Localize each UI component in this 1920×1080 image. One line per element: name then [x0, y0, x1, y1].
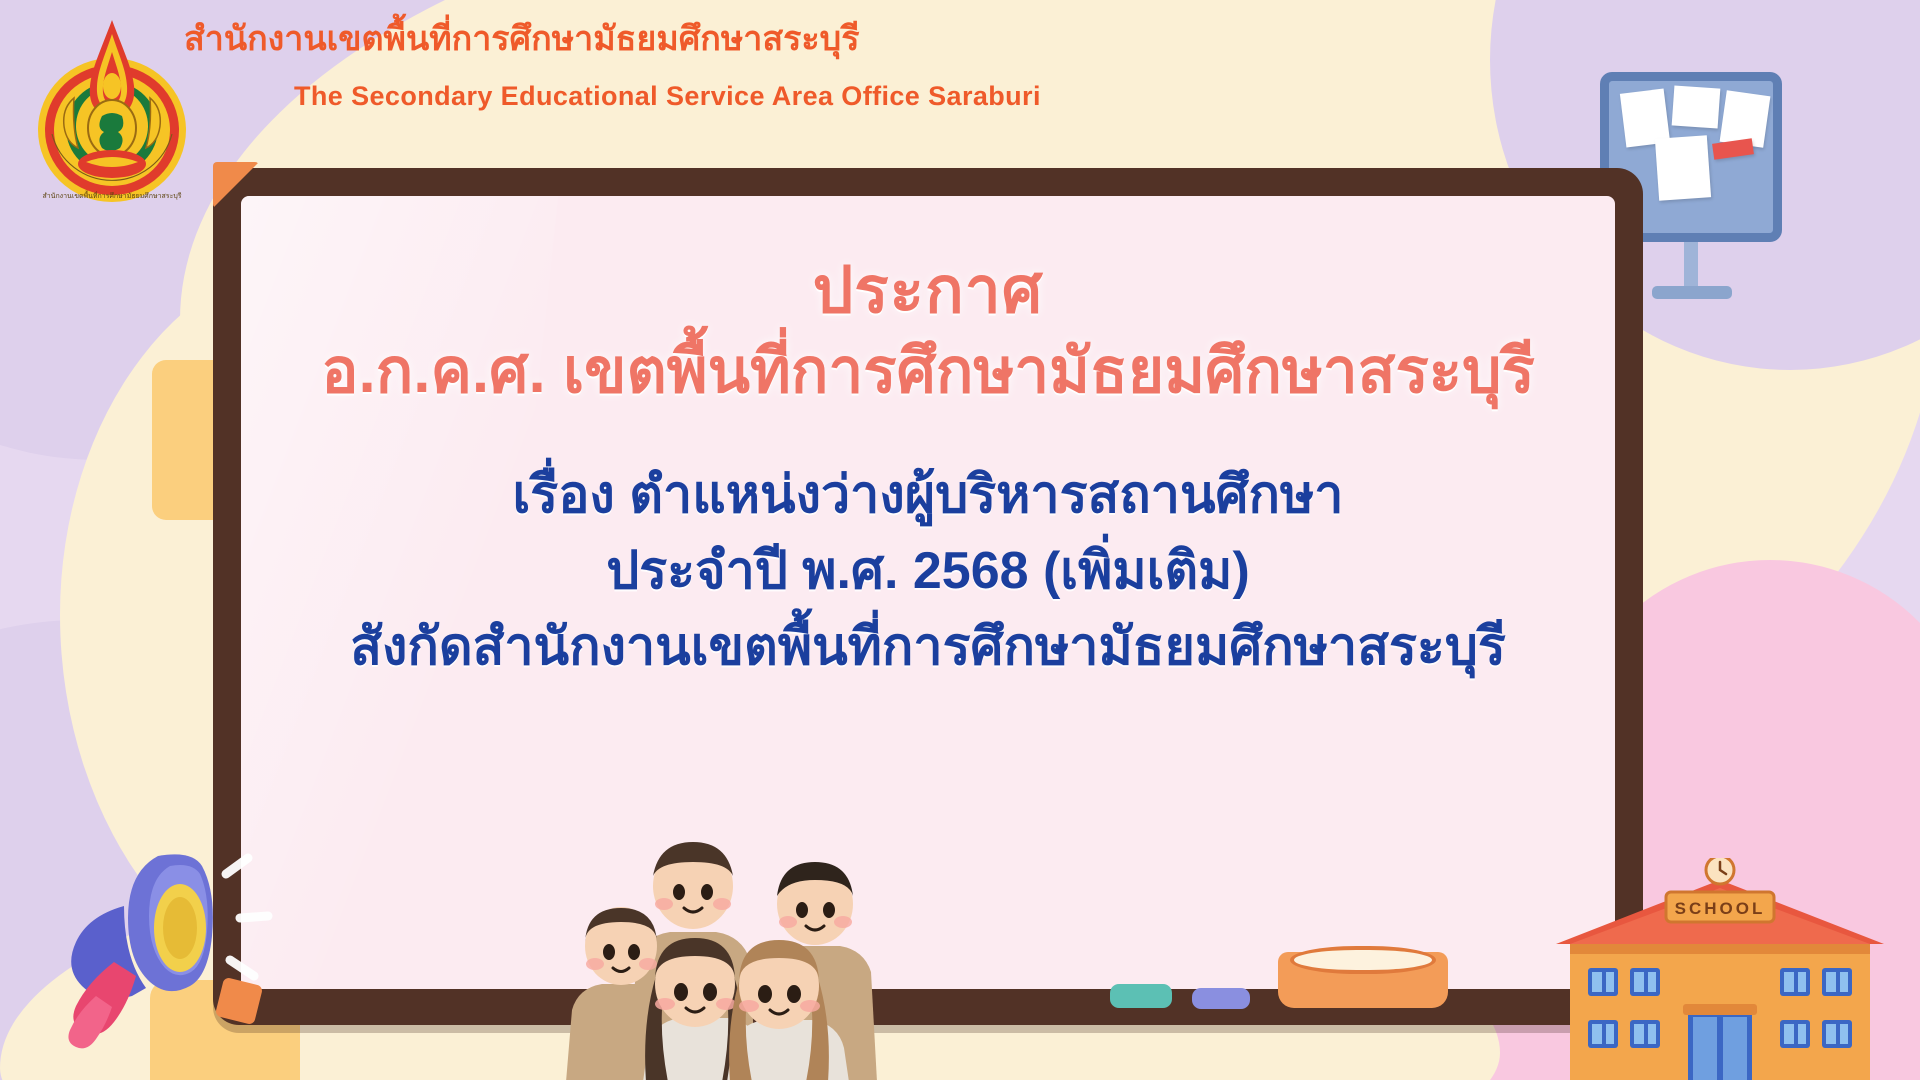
org-name-thai: สำนักงานเขตพื้นที่การศึกษามัธยมศึกษาสระบ…	[184, 18, 1284, 61]
eraser-blue	[1192, 988, 1250, 1009]
bulletin-note	[1655, 135, 1711, 200]
ministry-of-education-emblem-icon: สำนักงานเขตพื้นที่การศึกษามัธยมศึกษาสระบ…	[28, 12, 196, 208]
subject-line: เรื่อง ตำแหน่งว่างผู้บริหารสถานศึกษา	[281, 458, 1575, 534]
org-name-english: The Secondary Educational Service Area O…	[294, 81, 1284, 112]
board-corner-tape-top-left	[213, 162, 259, 208]
bulletin-board-stand	[1684, 237, 1698, 291]
bulletin-board-base	[1652, 286, 1732, 299]
bulletin-note	[1672, 85, 1721, 128]
year-line: ประจำปี พ.ศ. 2568 (เพิ่มเติม)	[281, 534, 1575, 610]
eraser-teal	[1110, 984, 1172, 1008]
supply-tray-opening	[1290, 946, 1436, 974]
affiliation-line: สังกัดสำนักงานเขตพื้นที่การศึกษามัธยมศึก…	[281, 610, 1575, 686]
announcement-details: เรื่อง ตำแหน่งว่างผู้บริหารสถานศึกษา ประ…	[281, 458, 1575, 686]
header-block: สำนักงานเขตพื้นที่การศึกษามัธยมศึกษาสระบ…	[184, 18, 1284, 112]
desk-supplies-illustration	[1100, 940, 1520, 1030]
megaphone-icon	[40, 810, 340, 1060]
committee-line: อ.ก.ค.ศ. เขตพื้นที่การศึกษามัธยมศึกษาสระ…	[281, 332, 1575, 413]
school-building-icon: SCHOOL	[1540, 858, 1900, 1080]
announcement-title: ประกาศ	[281, 254, 1575, 328]
bulletin-note-red	[1712, 138, 1754, 159]
students-group-illustration	[560, 812, 1000, 1080]
board-text-block: ประกาศ อ.ก.ค.ศ. เขตพื้นที่การศึกษามัธยมศ…	[241, 254, 1615, 686]
poster-canvas: สำนักงานเขตพื้นที่การศึกษามัธยมศึกษาสระบ…	[0, 0, 1920, 1080]
school-sign-text: SCHOOL	[1675, 899, 1766, 918]
